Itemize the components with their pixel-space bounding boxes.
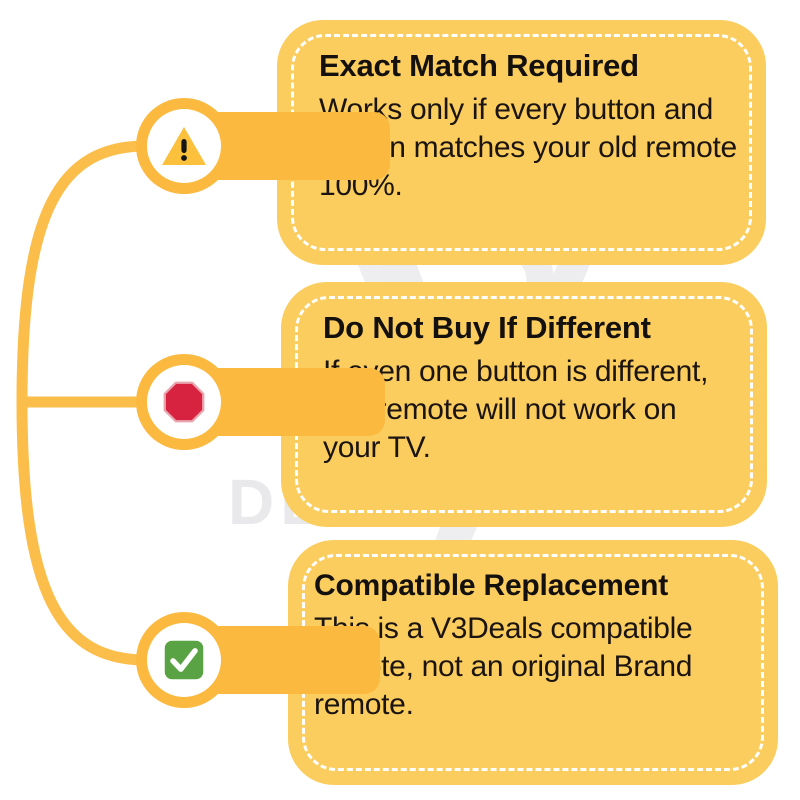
- badge-ring: [136, 98, 232, 194]
- badge-do-not-buy-if-different: [136, 354, 232, 450]
- infographic-canvas: DEALS Exact Match Required Works only if…: [0, 0, 800, 800]
- card-body: If even one button is different, this re…: [323, 353, 741, 468]
- warning-triangle-icon: [160, 122, 208, 170]
- check-square-icon: [160, 636, 208, 684]
- badge-exact-match-required: [136, 98, 232, 194]
- card-title: Do Not Buy If Different: [323, 312, 741, 345]
- badge-ring: [136, 354, 232, 450]
- card-body: This is a V3Deals compatible remote, not…: [314, 610, 770, 725]
- stop-octagon-icon: [160, 378, 208, 426]
- card-title: Exact Match Required: [319, 50, 740, 83]
- badge-ring: [136, 612, 232, 708]
- badge-compatible-replacement: [136, 612, 232, 708]
- card-title: Compatible Replacement: [314, 570, 770, 602]
